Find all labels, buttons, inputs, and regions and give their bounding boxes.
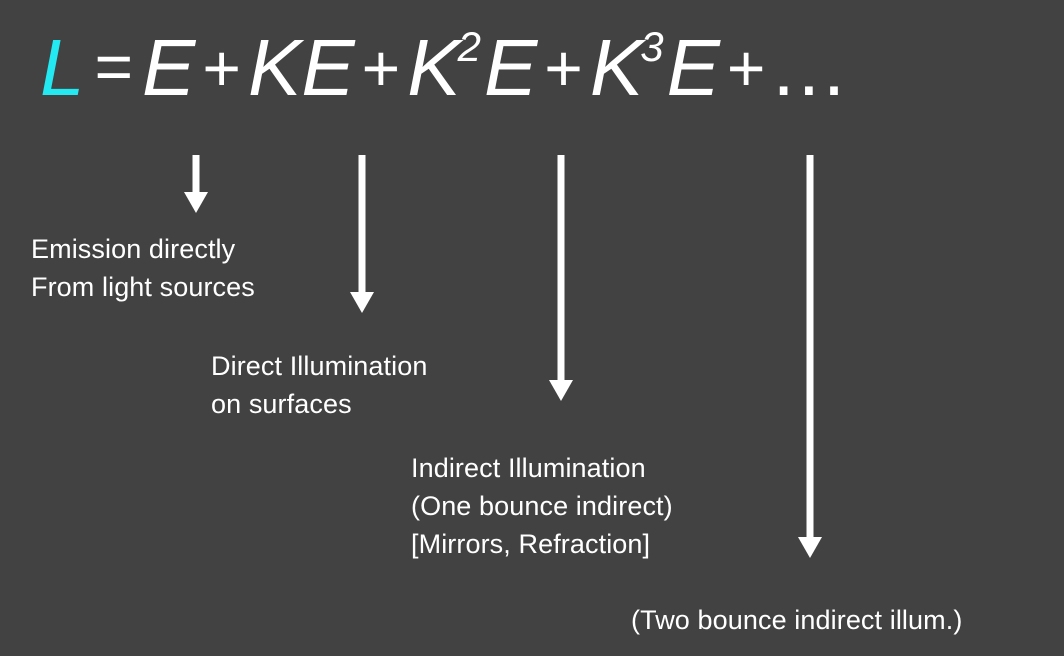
annotation-emission: Emission directly From light sources: [31, 230, 255, 306]
arrow-to-indirect-illumination: [537, 155, 585, 401]
arrow-shaft: [558, 155, 565, 380]
equation-plus-4: +: [720, 31, 773, 105]
arrow-shaft: [807, 155, 814, 537]
equation-term-K3E-tail: E: [667, 23, 720, 112]
equation-plus-2: +: [355, 31, 408, 105]
annotation-two-bounce: (Two bounce indirect illum.): [631, 601, 962, 639]
equation-equals-sign: =: [85, 29, 143, 103]
arrow-head: [549, 380, 573, 401]
equation-term-K3E-exponent: 3: [640, 23, 663, 70]
annotation-indirect-illumination: Indirect Illumination (One bounce indire…: [411, 449, 673, 563]
arrow-to-emission: [172, 155, 220, 213]
equation-ellipsis: ...: [772, 23, 848, 112]
equation-plus-1: +: [195, 31, 248, 105]
arrow-head: [350, 292, 374, 313]
arrow-to-two-bounce: [786, 155, 834, 558]
arrow-to-direct-illumination: [338, 155, 386, 313]
slide-canvas: L=E+KE+K2E+K3E+... Emission directly Fro…: [0, 0, 1064, 656]
equation-term-E: E: [142, 28, 195, 108]
equation-term-KE: KE: [248, 28, 355, 108]
arrow-head: [798, 537, 822, 558]
arrow-shaft: [193, 155, 200, 192]
annotation-direct-illumination: Direct Illumination on surfaces: [211, 347, 427, 423]
arrow-shaft: [359, 155, 366, 292]
equation-term-K3E-base: K: [590, 23, 643, 112]
equation-term-K2E-base: K: [407, 23, 460, 112]
equation-term-K2E-tail: E: [484, 23, 537, 112]
arrow-head: [184, 192, 208, 213]
equation-plus-3: +: [537, 31, 590, 105]
equation-term-K2E-exponent: 2: [458, 23, 481, 70]
equation-lhs-L: L: [40, 28, 85, 108]
equation-term-K2E: K2E: [407, 28, 537, 108]
rendering-equation: L=E+KE+K2E+K3E+...: [40, 28, 848, 108]
equation-term-K3E: K3E: [590, 28, 720, 108]
